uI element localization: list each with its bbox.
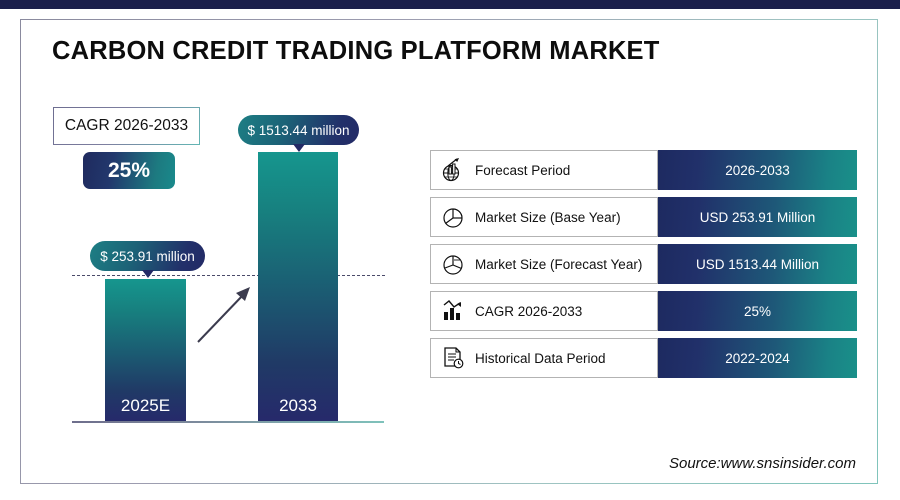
table-row-label-cell: CAGR 2026-2033 xyxy=(430,291,658,331)
table-row-value: 2022-2024 xyxy=(658,338,857,378)
bar-label-2025e: 2025E xyxy=(105,396,186,416)
table-row-label-cell: Historical Data Period xyxy=(430,338,658,378)
table-row: CAGR 2026-2033 25% xyxy=(430,291,857,331)
table-row-label: Market Size (Base Year) xyxy=(475,210,621,225)
table-row-label-cell: Market Size (Forecast Year) xyxy=(430,244,658,284)
bar-chart-icon xyxy=(431,298,475,324)
bar-label-2033: 2033 xyxy=(258,396,338,416)
value-callout-2025e: $ 253.91 million xyxy=(90,241,205,271)
source-attribution: Source:www.snsinsider.com xyxy=(669,455,856,472)
bar-2033: 2033 xyxy=(258,152,338,422)
table-row: Market Size (Base Year) USD 253.91 Milli… xyxy=(430,197,857,237)
table-row-value: 25% xyxy=(658,291,857,331)
table-row-label: Forecast Period xyxy=(475,163,570,178)
table-row: Forecast Period 2026-2033 xyxy=(430,150,857,190)
x-axis-line xyxy=(72,421,384,423)
value-callout-2033: $ 1513.44 million xyxy=(238,115,359,145)
metrics-table: Forecast Period 2026-2033 Market Size (B… xyxy=(430,150,857,385)
table-row-label-cell: Forecast Period xyxy=(430,150,658,190)
pie-chart-icon xyxy=(431,204,475,230)
infographic-canvas: CARBON CREDIT TRADING PLATFORM MARKET CA… xyxy=(0,0,900,500)
table-row-value: 2026-2033 xyxy=(658,150,857,190)
table-row-value: USD 253.91 Million xyxy=(658,197,857,237)
value-callout-2033-text: $ 1513.44 million xyxy=(247,123,349,138)
table-row-label: Historical Data Period xyxy=(475,351,606,366)
growth-arrow-icon xyxy=(190,280,260,350)
value-callout-2025e-text: $ 253.91 million xyxy=(100,249,195,264)
reference-dashed-line xyxy=(72,275,385,276)
table-row: Market Size (Forecast Year) USD 1513.44 … xyxy=(430,244,857,284)
bar-2025e: 2025E xyxy=(105,279,186,422)
pie-chart-3d-icon xyxy=(431,251,475,277)
table-row-value: USD 1513.44 Million xyxy=(658,244,857,284)
globe-growth-icon xyxy=(431,157,475,183)
document-clock-icon xyxy=(431,345,475,371)
table-row-label: CAGR 2026-2033 xyxy=(475,304,582,319)
table-row: Historical Data Period 2022-2024 xyxy=(430,338,857,378)
table-row-label: Market Size (Forecast Year) xyxy=(475,257,642,272)
bar-chart: 2025E 2033 $ 1513.44 million $ 253.91 mi… xyxy=(0,0,420,500)
table-row-label-cell: Market Size (Base Year) xyxy=(430,197,658,237)
